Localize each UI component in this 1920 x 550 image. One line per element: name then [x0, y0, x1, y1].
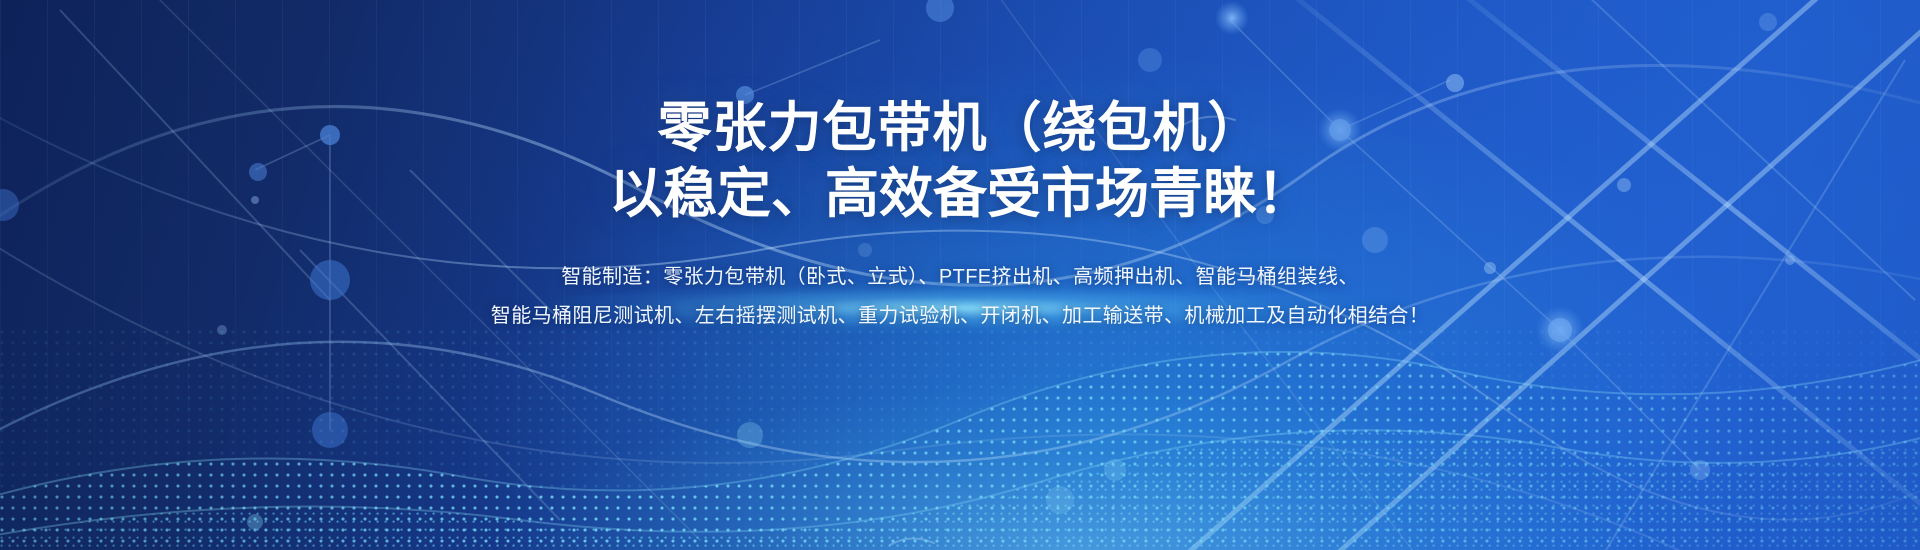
banner-content: 零张力包带机（绕包机） 以稳定、高效备受市场青睐！ 智能制造：零张力包带机（卧式…: [0, 96, 1920, 336]
bottom-glow: [0, 320, 1920, 550]
banner-subtitle: 智能制造：零张力包带机（卧式、立式）、PTFE挤出机、高频押出机、智能马桶组装线…: [0, 258, 1920, 336]
subtitle-line-2: 智能马桶阻尼测试机、左右摇摆测试机、重力试验机、开闭机、加工输送带、机械加工及自…: [0, 297, 1920, 336]
headline-line-2: 以稳定、高效备受市场青睐！: [609, 164, 1311, 224]
hero-banner: 零张力包带机（绕包机） 以稳定、高效备受市场青睐！ 智能制造：零张力包带机（卧式…: [0, 0, 1920, 550]
subtitle-line-1: 智能制造：零张力包带机（卧式、立式）、PTFE挤出机、高频押出机、智能马桶组装线…: [0, 258, 1920, 297]
banner-headline: 零张力包带机（绕包机） 以稳定、高效备受市场青睐！: [0, 96, 1920, 228]
headline-line-1: 零张力包带机（绕包机）: [658, 98, 1263, 158]
